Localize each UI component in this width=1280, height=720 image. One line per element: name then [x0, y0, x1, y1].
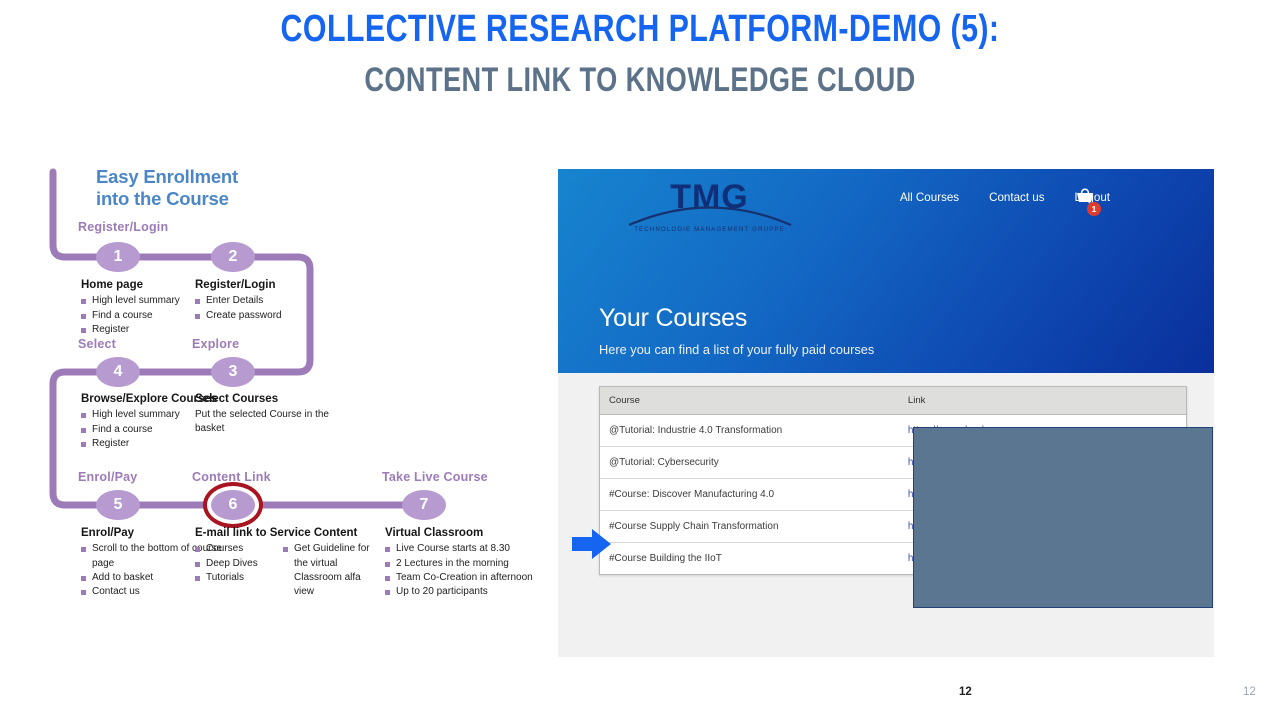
list-item: Live Course starts at 8.30: [385, 542, 540, 556]
stage-label-explore: Explore: [192, 337, 239, 351]
stage-label-enrol-pay: Enrol/Pay: [78, 470, 137, 484]
courses-table-container: Course Link @Tutorial: Industrie 4.0 Tra…: [599, 386, 1187, 575]
flow-node-5[interactable]: 5: [96, 490, 140, 520]
flow-node-1[interactable]: 1: [96, 242, 140, 272]
step-title-3: Select Courses: [195, 392, 345, 406]
table-header-row: Course Link: [600, 387, 1186, 415]
flow-node-6[interactable]: 6: [211, 490, 255, 520]
step-title-6: E-mail link to Service Content: [195, 526, 385, 540]
browser-screenshot: TMG TECHNOLOGIE MANAGEMENT GRUPPE All Co…: [558, 169, 1214, 657]
list-item: Register: [81, 437, 231, 451]
page-title: Collective Research Platform-Demo (5): C…: [0, 8, 1280, 100]
nav-item-all-courses[interactable]: All Courses: [900, 191, 959, 204]
stage-label-content-link: Content Link: [192, 470, 271, 484]
list-item: Create password: [195, 309, 345, 323]
list-item: Enter Details: [195, 294, 345, 308]
cell-course: #Course Supply Chain Transformation: [600, 511, 899, 543]
cell-course: @Tutorial: Industrie 4.0 Transformation: [600, 415, 899, 447]
cart-badge: 1: [1087, 202, 1101, 216]
cell-course: @Tutorial: Cybersecurity: [600, 447, 899, 479]
blue-arrow-icon: [572, 528, 612, 560]
step-title-7: Virtual Classroom: [385, 526, 540, 540]
stage-label-take-live-course: Take Live Course: [382, 470, 488, 484]
step-bullets-6-col2: Get Guideline for the virtual Classroom …: [283, 542, 379, 599]
list-item: Team Co-Creation in afternoon: [385, 571, 540, 585]
nav-item-contact-us[interactable]: Contact us: [989, 191, 1044, 204]
page-number-center: 12: [959, 686, 972, 698]
diagram-heading: Easy Enrollment into the Course: [96, 166, 396, 210]
stage-label-register-login: Register/Login: [78, 220, 168, 234]
title-line-1: Collective Research Platform-Demo (5):: [128, 8, 1152, 51]
cart-button[interactable]: 1: [1076, 188, 1106, 218]
courses-table-head: Course Link: [600, 387, 1186, 415]
hero-title: Your Courses: [599, 304, 874, 333]
flow-node-3[interactable]: 3: [211, 357, 255, 387]
flow-node-2[interactable]: 2: [211, 242, 255, 272]
list-item: Deep Dives: [195, 557, 273, 571]
hero-subtitle: Here you can find a list of your fully p…: [599, 342, 874, 357]
list-item: Tutorials: [195, 571, 273, 585]
step-block-3: Select Courses Put the selected Course i…: [195, 392, 345, 435]
redaction-box: [913, 427, 1213, 608]
cell-course: #Course: Discover Manufacturing 4.0: [600, 479, 899, 511]
enrollment-flow-diagram: Easy Enrollment into the Course Register…: [40, 160, 540, 605]
list-item: Courses: [195, 542, 273, 556]
hero-copy: Your Courses Here you can find a list of…: [599, 304, 874, 357]
list-item: 2 Lectures in the morning: [385, 557, 540, 571]
diagram-heading-line-2: into the Course: [96, 188, 396, 210]
step-block-7: Virtual Classroom Live Course starts at …: [385, 526, 540, 599]
cell-course: #Course Building the IIoT: [600, 543, 899, 575]
title-line-2: Content Link to Knowledge Cloud: [128, 61, 1152, 100]
flow-node-7[interactable]: 7: [402, 490, 446, 520]
step-bullets-2: Enter Details Create password: [195, 294, 345, 322]
step-block-2: Register/Login Enter Details Create pass…: [195, 278, 345, 323]
site-hero: TMG TECHNOLOGIE MANAGEMENT GRUPPE All Co…: [558, 169, 1214, 373]
step-subtitle-3: Put the selected Course in the basket: [195, 408, 345, 435]
step-bullets-7: Live Course starts at 8.30 2 Lectures in…: [385, 542, 540, 599]
column-header-link: Link: [899, 387, 1186, 415]
page-number-right: 12: [1243, 686, 1256, 698]
list-item: Register: [81, 323, 231, 337]
flow-node-4[interactable]: 4: [96, 357, 140, 387]
list-item: Up to 20 participants: [385, 585, 540, 599]
step-title-2: Register/Login: [195, 278, 345, 292]
tmg-logo[interactable]: TMG TECHNOLOGIE MANAGEMENT GRUPPE: [617, 178, 802, 236]
stage-label-select: Select: [78, 337, 116, 351]
step-bullets-6: Courses Deep Dives Tutorials: [195, 542, 273, 599]
diagram-heading-line-1: Easy Enrollment: [96, 166, 396, 188]
column-header-course: Course: [600, 387, 899, 415]
step-block-6: E-mail link to Service Content Courses D…: [195, 526, 385, 599]
list-item: Get Guideline for the virtual Classroom …: [283, 542, 379, 599]
slide: Collective Research Platform-Demo (5): C…: [0, 0, 1280, 720]
logo-arch-icon: [625, 194, 795, 228]
